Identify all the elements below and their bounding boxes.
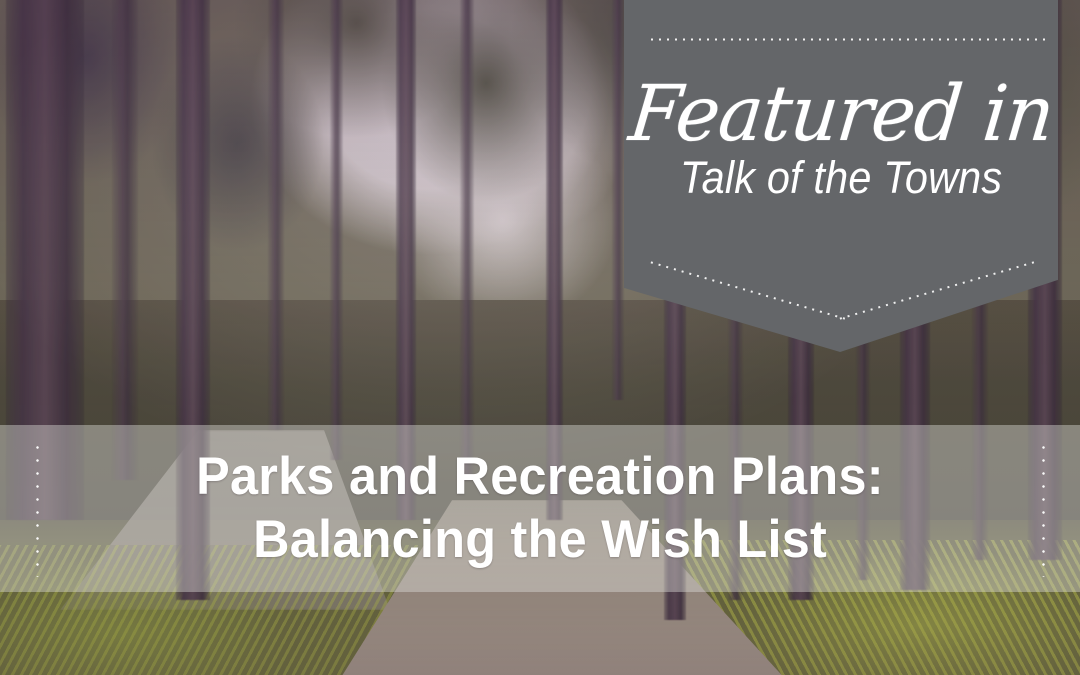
title-line-1: Parks and Recreation Plans: [196,446,884,509]
featured-in-script: Featured in [626,79,1056,150]
title-line-2: Balancing the Wish List [253,509,827,572]
banner-canvas: Featured in Talk of the Towns Parks and … [0,0,1080,675]
article-title: Parks and Recreation Plans: Balancing th… [0,425,1080,592]
publication-name: Talk of the Towns [680,154,1002,201]
flag-text-group: Featured in Talk of the Towns [624,0,1058,268]
chevron-dotted-left [648,260,849,321]
chevron-dotted-right [837,260,1038,321]
